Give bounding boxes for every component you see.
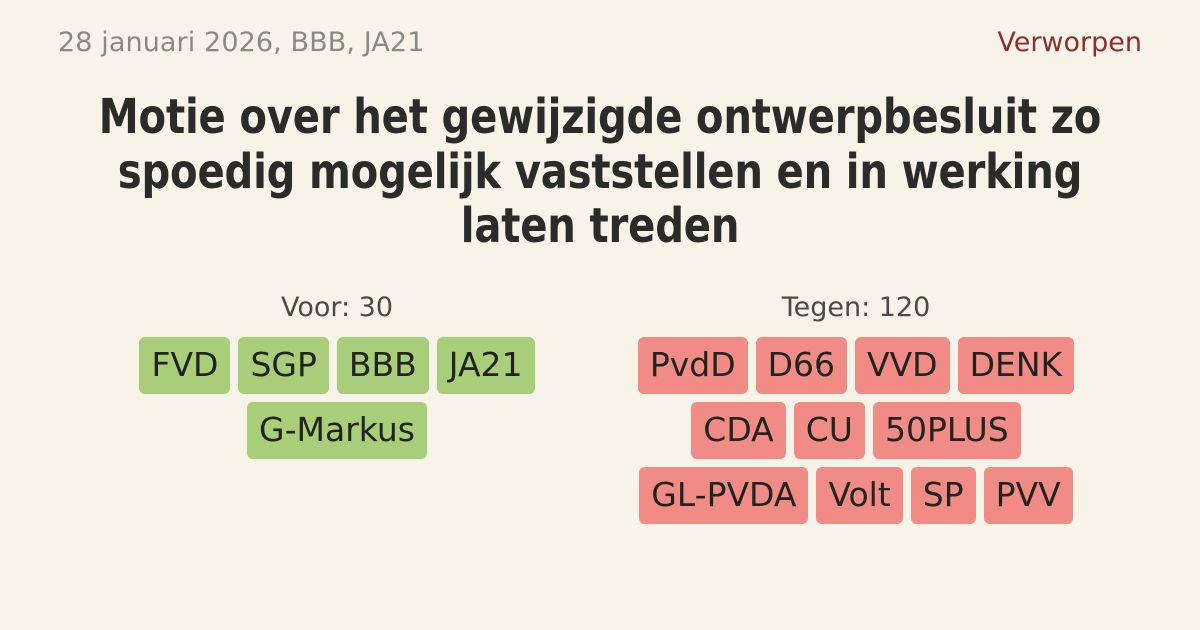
party-tag: GL-PVDA <box>639 467 808 524</box>
vote-result-card: 28 januari 2026, BBB, JA21 Verworpen Mot… <box>0 0 1200 630</box>
card-header: 28 januari 2026, BBB, JA21 Verworpen <box>0 0 1200 84</box>
party-tag: DENK <box>958 337 1075 394</box>
vote-count-voor: Voor: 30 <box>281 292 393 323</box>
motion-title: Motie over het gewijzigde ontwerpbesluit… <box>98 90 1102 254</box>
vote-count-tegen: Tegen: 120 <box>782 292 931 323</box>
party-tag: 50PLUS <box>873 402 1021 459</box>
party-tag: D66 <box>756 337 847 394</box>
party-tag: G-Markus <box>247 402 427 459</box>
party-tag: CU <box>794 402 865 459</box>
party-tag: BBB <box>337 337 429 394</box>
party-tag: CDA <box>691 402 785 459</box>
party-tag: SGP <box>238 337 328 394</box>
party-tag: FVD <box>139 337 230 394</box>
vote-section-tegen: Tegen: 120 PvdDD66VVDDENKCDACU50PLUSGL-P… <box>600 292 1176 524</box>
party-list-tegen: PvdDD66VVDDENKCDACU50PLUSGL-PVDAVoltSPPV… <box>614 337 1098 524</box>
party-tag: SP <box>911 467 976 524</box>
party-tag: JA21 <box>437 337 535 394</box>
party-tag: PvdD <box>638 337 748 394</box>
vote-sections: Voor: 30 FVDSGPBBBJA21G-Markus Tegen: 12… <box>0 254 1200 630</box>
motion-meta: 28 januari 2026, BBB, JA21 <box>58 27 424 58</box>
status-badge: Verworpen <box>997 27 1142 58</box>
party-tag: Volt <box>816 467 902 524</box>
party-list-voor: FVDSGPBBBJA21G-Markus <box>120 337 554 459</box>
title-container: Motie over het gewijzigde ontwerpbesluit… <box>0 84 1200 254</box>
vote-section-voor: Voor: 30 FVDSGPBBBJA21G-Markus <box>24 292 600 459</box>
party-tag: VVD <box>855 337 950 394</box>
party-tag: PVV <box>984 467 1073 524</box>
